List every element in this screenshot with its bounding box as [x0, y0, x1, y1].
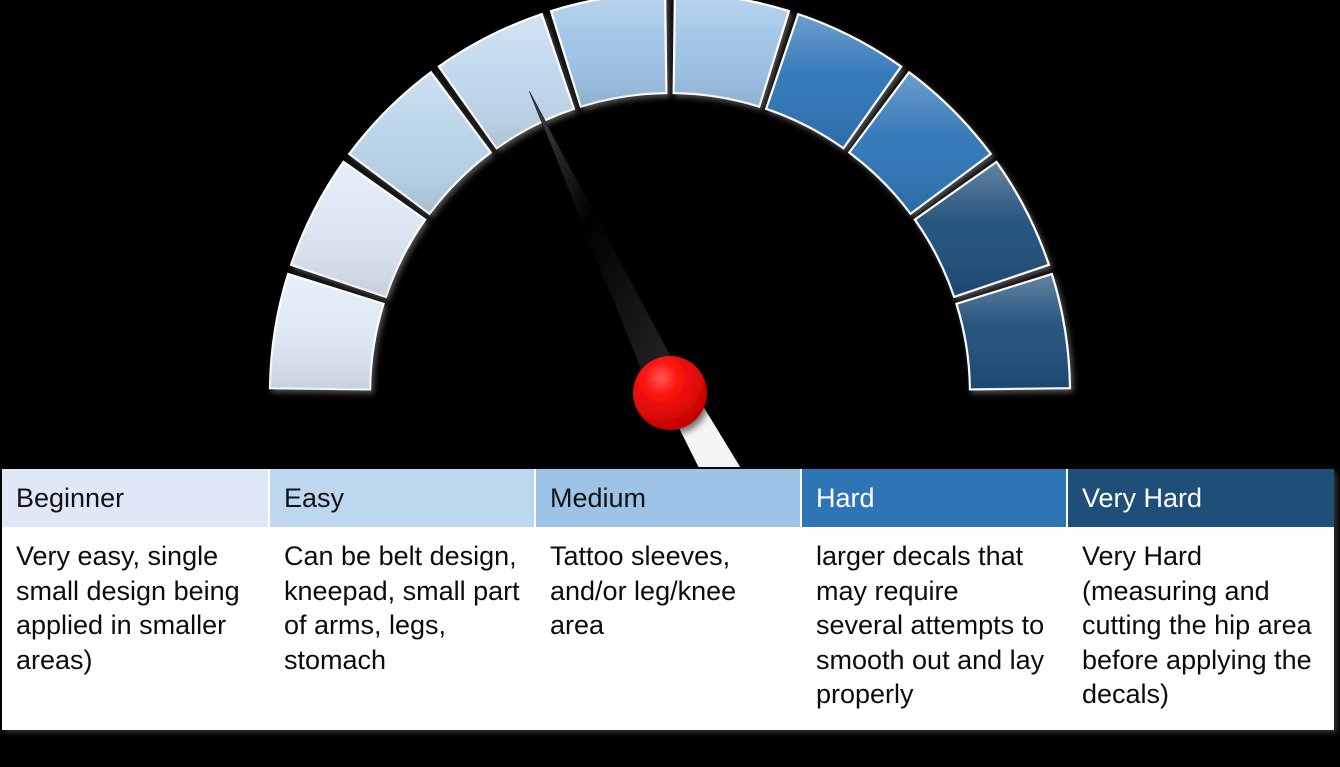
difficulty-matrix: Beginner Easy Medium Hard Very Hard Very…	[2, 469, 1334, 730]
table-row: Very easy, single small design being app…	[2, 527, 1334, 730]
gauge-dial	[0, 0, 1340, 470]
header-medium: Medium	[535, 469, 801, 527]
cell-medium: Tattoo sleeves, and/or leg/knee area	[535, 527, 801, 730]
header-beginner: Beginner	[2, 469, 269, 527]
header-hard: Hard	[801, 469, 1067, 527]
gauge-segments	[270, 0, 1070, 389]
cell-very-hard: Very Hard (measuring and cutting the hip…	[1067, 527, 1334, 730]
header-very-hard: Very Hard	[1067, 469, 1334, 527]
gauge-container	[0, 0, 1340, 470]
difficulty-table-panel: Beginner Easy Medium Hard Very Hard Very…	[0, 467, 1340, 767]
table-header-row: Beginner Easy Medium Hard Very Hard	[2, 469, 1334, 527]
gauge-needle	[529, 91, 686, 400]
cell-hard: larger decals that may require several a…	[801, 527, 1067, 730]
slide-canvas: Beginner Easy Medium Hard Very Hard Very…	[0, 0, 1340, 767]
header-easy: Easy	[269, 469, 535, 527]
cell-easy: Can be belt design, kneepad, small part …	[269, 527, 535, 730]
needle-hub	[633, 356, 707, 430]
cell-beginner: Very easy, single small design being app…	[2, 527, 269, 730]
